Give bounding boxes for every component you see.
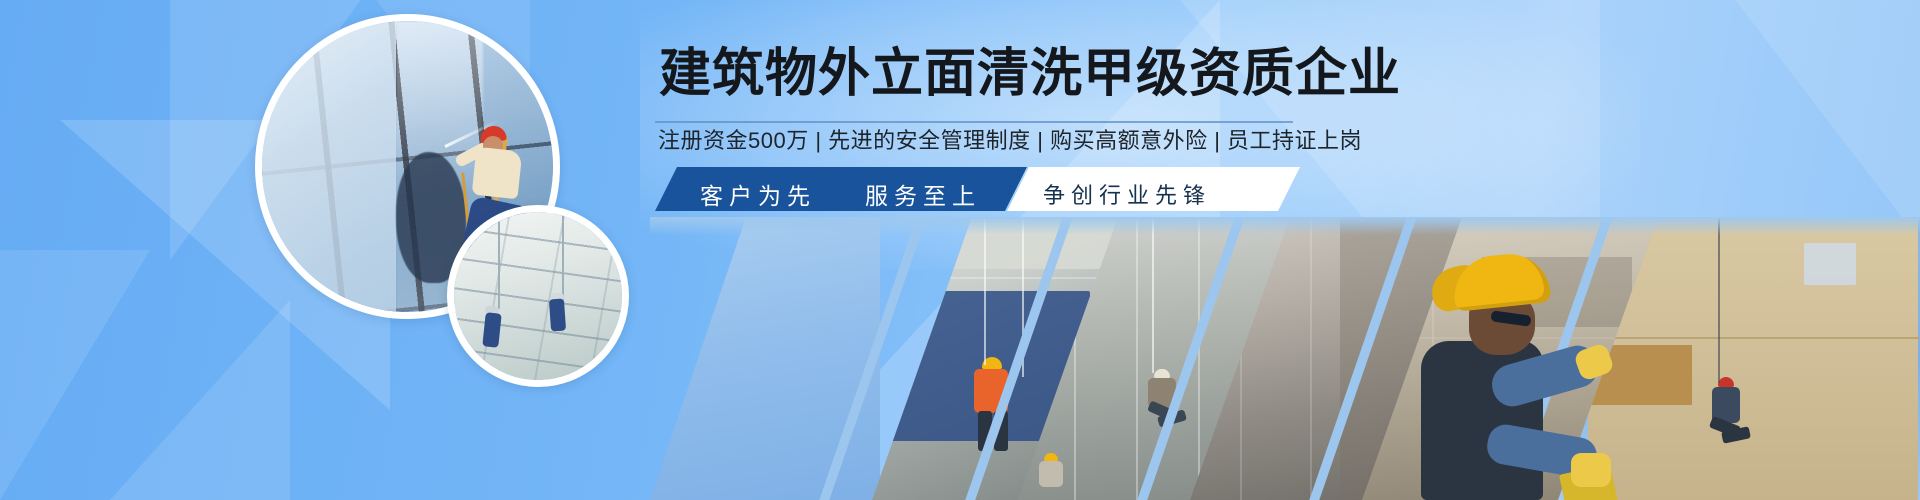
banner-subtitle: 注册资金500万 | 先进的安全管理制度 | 购买高额意外险 | 员工持证上岗 xyxy=(658,130,1362,152)
foreground-worker-figure xyxy=(1395,255,1605,500)
slogan-service-supreme: 服务至上 xyxy=(865,177,981,211)
title-divider xyxy=(655,121,1293,123)
circle-photo-small xyxy=(447,205,629,387)
banner-title: 建筑物外立面清洗甲级资质企业 xyxy=(659,48,1401,100)
strip-top-fade xyxy=(650,217,1920,235)
background-triangle-icon xyxy=(110,300,290,500)
photo-strip xyxy=(650,217,1920,500)
slogan-customer-first: 客户为先 xyxy=(700,177,816,211)
slogan-bar: 客户为先 服务至上 争创行业先锋 xyxy=(655,167,1300,211)
slogan-industry-pioneer: 争创行业先锋 xyxy=(1043,178,1211,210)
strip-panel-spacer xyxy=(650,217,880,500)
promo-banner: 建筑物外立面清洗甲级资质企业 注册资金500万 | 先进的安全管理制度 | 购买… xyxy=(0,0,1920,500)
